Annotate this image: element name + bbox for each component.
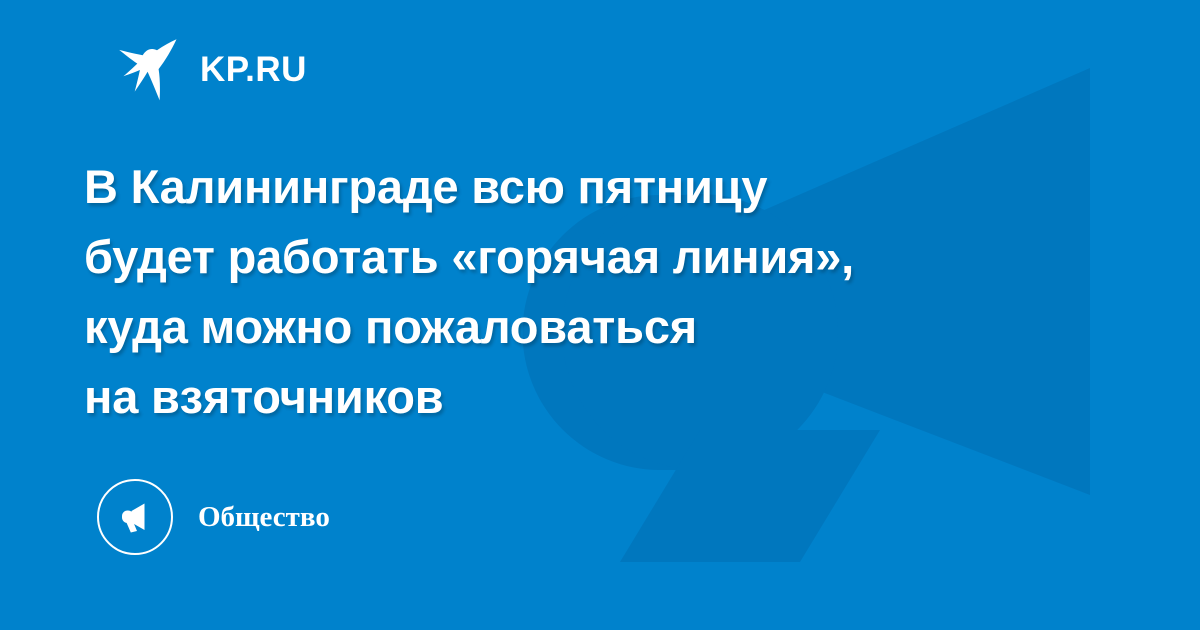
category-label: Общество (198, 503, 330, 532)
article-share-card: KP.RU В Калининграде всю пятницу будет р… (0, 0, 1200, 630)
brand-header: KP.RU (110, 36, 307, 102)
category-tag[interactable]: Общество (97, 479, 330, 555)
headline-line-4: на взяточников (84, 362, 1084, 432)
megaphone-icon (114, 496, 156, 538)
headline-line-1: В Калининграде всю пятницу (84, 152, 1084, 222)
headline: В Калининграде всю пятницу будет работат… (84, 152, 1084, 432)
headline-line-2: будет работать «горячая линия», (84, 222, 1084, 292)
category-badge (97, 479, 173, 555)
headline-line-3: куда можно пожаловаться (84, 292, 1084, 362)
swallow-bird-logo-icon (110, 36, 178, 102)
brand-name: KP.RU (200, 52, 307, 87)
